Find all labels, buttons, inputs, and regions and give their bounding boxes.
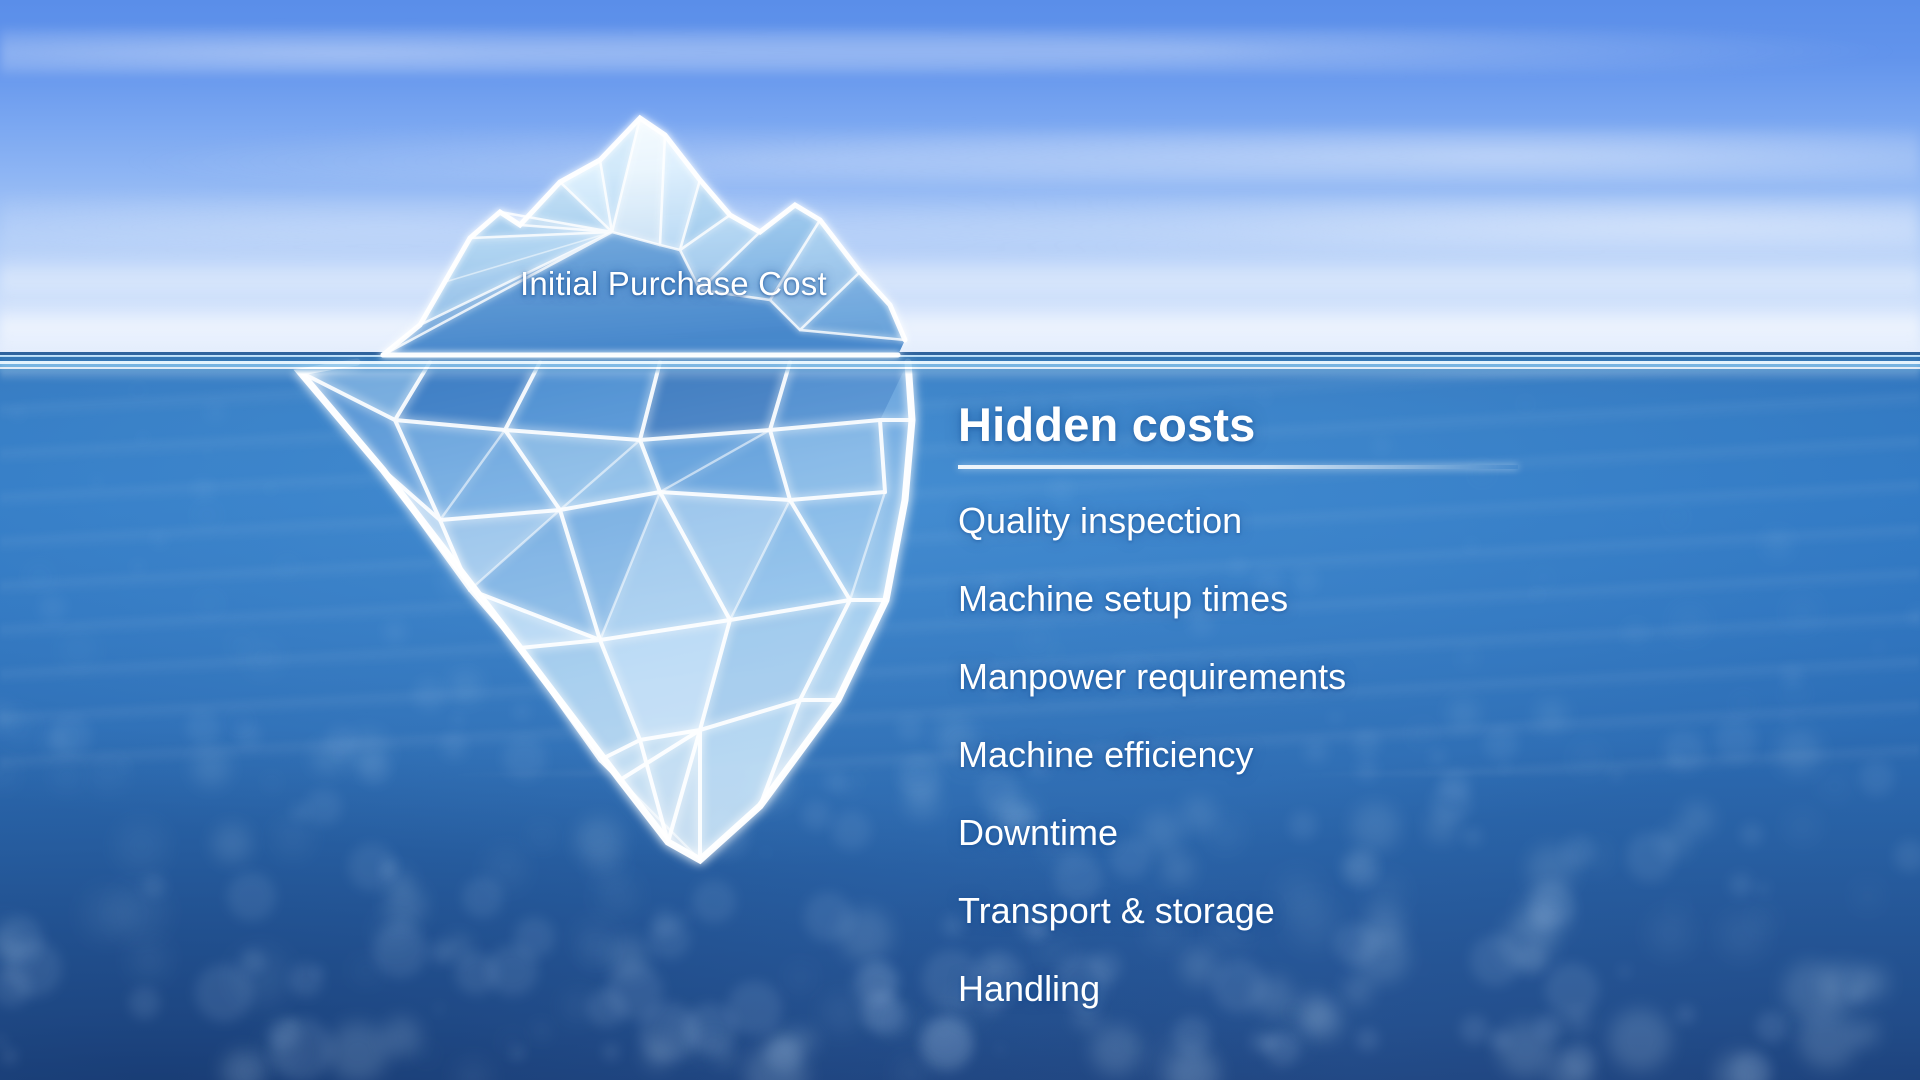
list-item: Manpower requirements [958, 659, 1698, 695]
iceberg-infographic: Initial Purchase Cost Hidden costs Quali… [0, 0, 1920, 1080]
list-item: Handling [958, 971, 1698, 1007]
iceberg-label-initial-purchase-cost: Initial Purchase Cost [520, 265, 827, 303]
list-item: Quality inspection [958, 503, 1698, 539]
title-divider [958, 465, 1518, 469]
list-item: Downtime [958, 815, 1698, 851]
list-item: Machine setup times [958, 581, 1698, 617]
page-title: Hidden costs [958, 400, 1698, 449]
list-item: Machine efficiency [958, 737, 1698, 773]
hidden-costs-panel: Hidden costs Quality inspectionMachine s… [958, 400, 1698, 1007]
hidden-costs-list: Quality inspectionMachine setup timesMan… [958, 503, 1698, 1007]
list-item: Transport & storage [958, 893, 1698, 929]
iceberg-top-facets [383, 118, 905, 355]
